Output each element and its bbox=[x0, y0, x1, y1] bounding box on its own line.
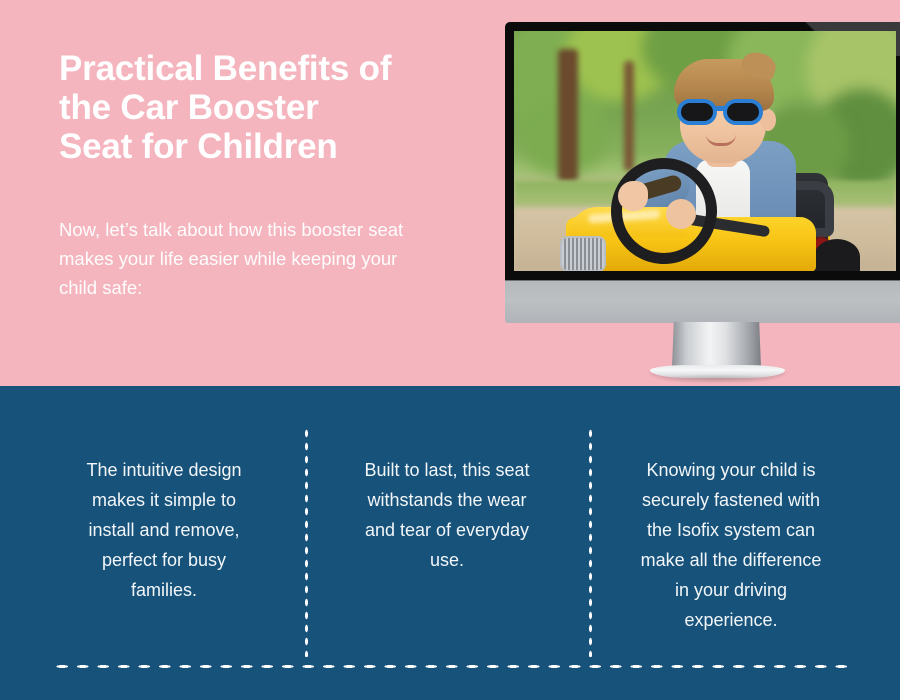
sunglasses-icon bbox=[677, 99, 773, 125]
benefit-column-1: The intuitive design makes it simple to … bbox=[48, 455, 280, 605]
tree-trunk bbox=[558, 49, 578, 181]
hero-photo bbox=[514, 31, 896, 271]
benefit-column-2: Built to last, this seat withstands the … bbox=[331, 455, 563, 575]
page-title: Practical Benefits of the Car Booster Se… bbox=[59, 49, 479, 166]
benefit-line: Built to last, this seat bbox=[331, 455, 563, 485]
benefit-line: securely fastened with bbox=[613, 485, 849, 515]
boy-left-hand bbox=[618, 181, 648, 211]
monitor-screen bbox=[514, 31, 896, 271]
page-subtitle-line-2: makes your life easier while keeping you… bbox=[59, 244, 474, 273]
benefit-line: and tear of everyday bbox=[331, 515, 563, 545]
monitor-stand-neck bbox=[672, 322, 761, 367]
sunglasses-left-lens bbox=[677, 99, 717, 125]
infographic-canvas: Practical Benefits of the Car Booster Se… bbox=[0, 0, 900, 700]
benefit-line: withstands the wear bbox=[331, 485, 563, 515]
benefit-line: use. bbox=[331, 545, 563, 575]
benefit-line: makes it simple to bbox=[48, 485, 280, 515]
benefit-line: install and remove, bbox=[48, 515, 280, 545]
benefit-line: the Isofix system can bbox=[613, 515, 849, 545]
monitor-chin bbox=[505, 280, 900, 323]
monitor-bezel bbox=[505, 22, 900, 280]
sunglasses-right-lens bbox=[723, 99, 763, 125]
monitor-mockup bbox=[505, 22, 900, 377]
page-title-line-2: the Car Booster bbox=[59, 88, 479, 127]
page-subtitle-line-3: child safe: bbox=[59, 273, 474, 302]
benefit-line: The intuitive design bbox=[48, 455, 280, 485]
tree-trunk bbox=[624, 61, 634, 171]
boy-right-hand bbox=[666, 199, 696, 229]
car-wheel bbox=[814, 239, 860, 271]
benefit-line: Knowing your child is bbox=[613, 455, 849, 485]
horizontal-dotted-divider bbox=[52, 664, 850, 669]
benefit-line: experience. bbox=[613, 605, 849, 635]
benefit-line: make all the difference bbox=[613, 545, 849, 575]
page-title-line-1: Practical Benefits of bbox=[59, 49, 479, 88]
benefit-column-3: Knowing your child is securely fastened … bbox=[613, 455, 849, 635]
benefit-line: families. bbox=[48, 575, 280, 605]
page-subtitle-line-1: Now, let’s talk about how this booster s… bbox=[59, 215, 474, 244]
vertical-dotted-divider-2 bbox=[588, 427, 593, 657]
car-grille bbox=[560, 236, 606, 271]
page-subtitle: Now, let’s talk about how this booster s… bbox=[59, 215, 474, 302]
monitor-base-shadow bbox=[657, 374, 777, 384]
page-title-line-3: Seat for Children bbox=[59, 127, 479, 166]
benefit-line: in your driving bbox=[613, 575, 849, 605]
benefit-line: perfect for busy bbox=[48, 545, 280, 575]
vertical-dotted-divider-1 bbox=[304, 427, 309, 657]
